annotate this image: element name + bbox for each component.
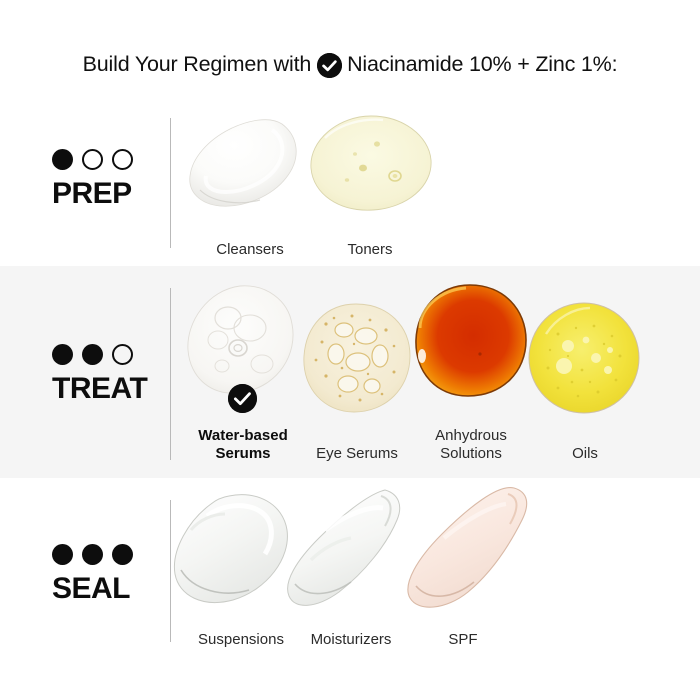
progress-dot-empty [112,149,133,170]
product-label-suspensions: Suspensions [198,631,284,649]
product-label-spf: SPF [448,631,477,649]
product-item-anhydrous-solutions[interactable]: Anhydrous Solutions [412,282,530,464]
swatch-cleansers [186,110,314,227]
product-label-anhydrous-solutions: Anhydrous Solutions [435,427,507,464]
swatch-anhydrous-solutions [410,282,532,405]
progress-dots-prep [52,149,172,170]
page-title: Build Your Regimen with Niacinamide 10% … [0,44,700,84]
product-label-toners: Toners [347,241,392,259]
stage-label-seal: SEAL [52,544,172,605]
progress-dot-filled [52,344,73,365]
progress-dot-filled [52,544,73,565]
swatch-row-prep: Cleansers Tone [186,110,434,259]
progress-dots-seal [52,544,172,565]
stage-name-prep: PREP [52,178,172,210]
product-item-oils[interactable]: Oils [526,300,644,463]
progress-dot-filled [52,149,73,170]
progress-dot-filled [112,544,133,565]
stage-name-treat: TREAT [52,373,172,405]
product-label-oils: Oils [572,445,598,463]
check-circle-icon [228,384,257,413]
swatch-row-treat: Water-based Serums [184,282,644,464]
swatch-spf [388,486,538,619]
stage-label-treat: TREAT [52,344,172,405]
progress-dots-treat [52,344,172,365]
title-text-after: Niacinamide 10% + Zinc 1%: [347,52,617,77]
progress-dot-filled [82,344,103,365]
progress-dot-empty [112,344,133,365]
title-text-before: Build Your Regimen with [83,52,311,77]
progress-dot-filled [82,544,103,565]
stage-name-seal: SEAL [52,573,172,605]
product-item-eye-serums[interactable]: Eye Serums [298,300,416,463]
swatch-toners [303,110,437,227]
product-label-cleansers: Cleansers [216,241,284,259]
swatch-row-seal: Suspensions Moisturizers [182,486,522,649]
swatch-water-based-serums [182,282,304,405]
swatch-eye-serums [296,300,418,423]
product-item-water-based-serums[interactable]: Water-based Serums [184,282,302,464]
check-circle-icon [317,53,342,78]
product-item-spf[interactable]: SPF [404,486,522,649]
product-item-cleansers[interactable]: Cleansers [186,110,314,259]
product-label-water-based-serums: Water-based Serums [198,427,287,464]
product-label-eye-serums: Eye Serums [316,445,398,463]
progress-dot-empty [82,149,103,170]
product-label-moisturizers: Moisturizers [311,631,392,649]
swatch-oils [524,300,646,423]
product-item-toners[interactable]: Toners [306,110,434,259]
stage-label-prep: PREP [52,149,172,210]
